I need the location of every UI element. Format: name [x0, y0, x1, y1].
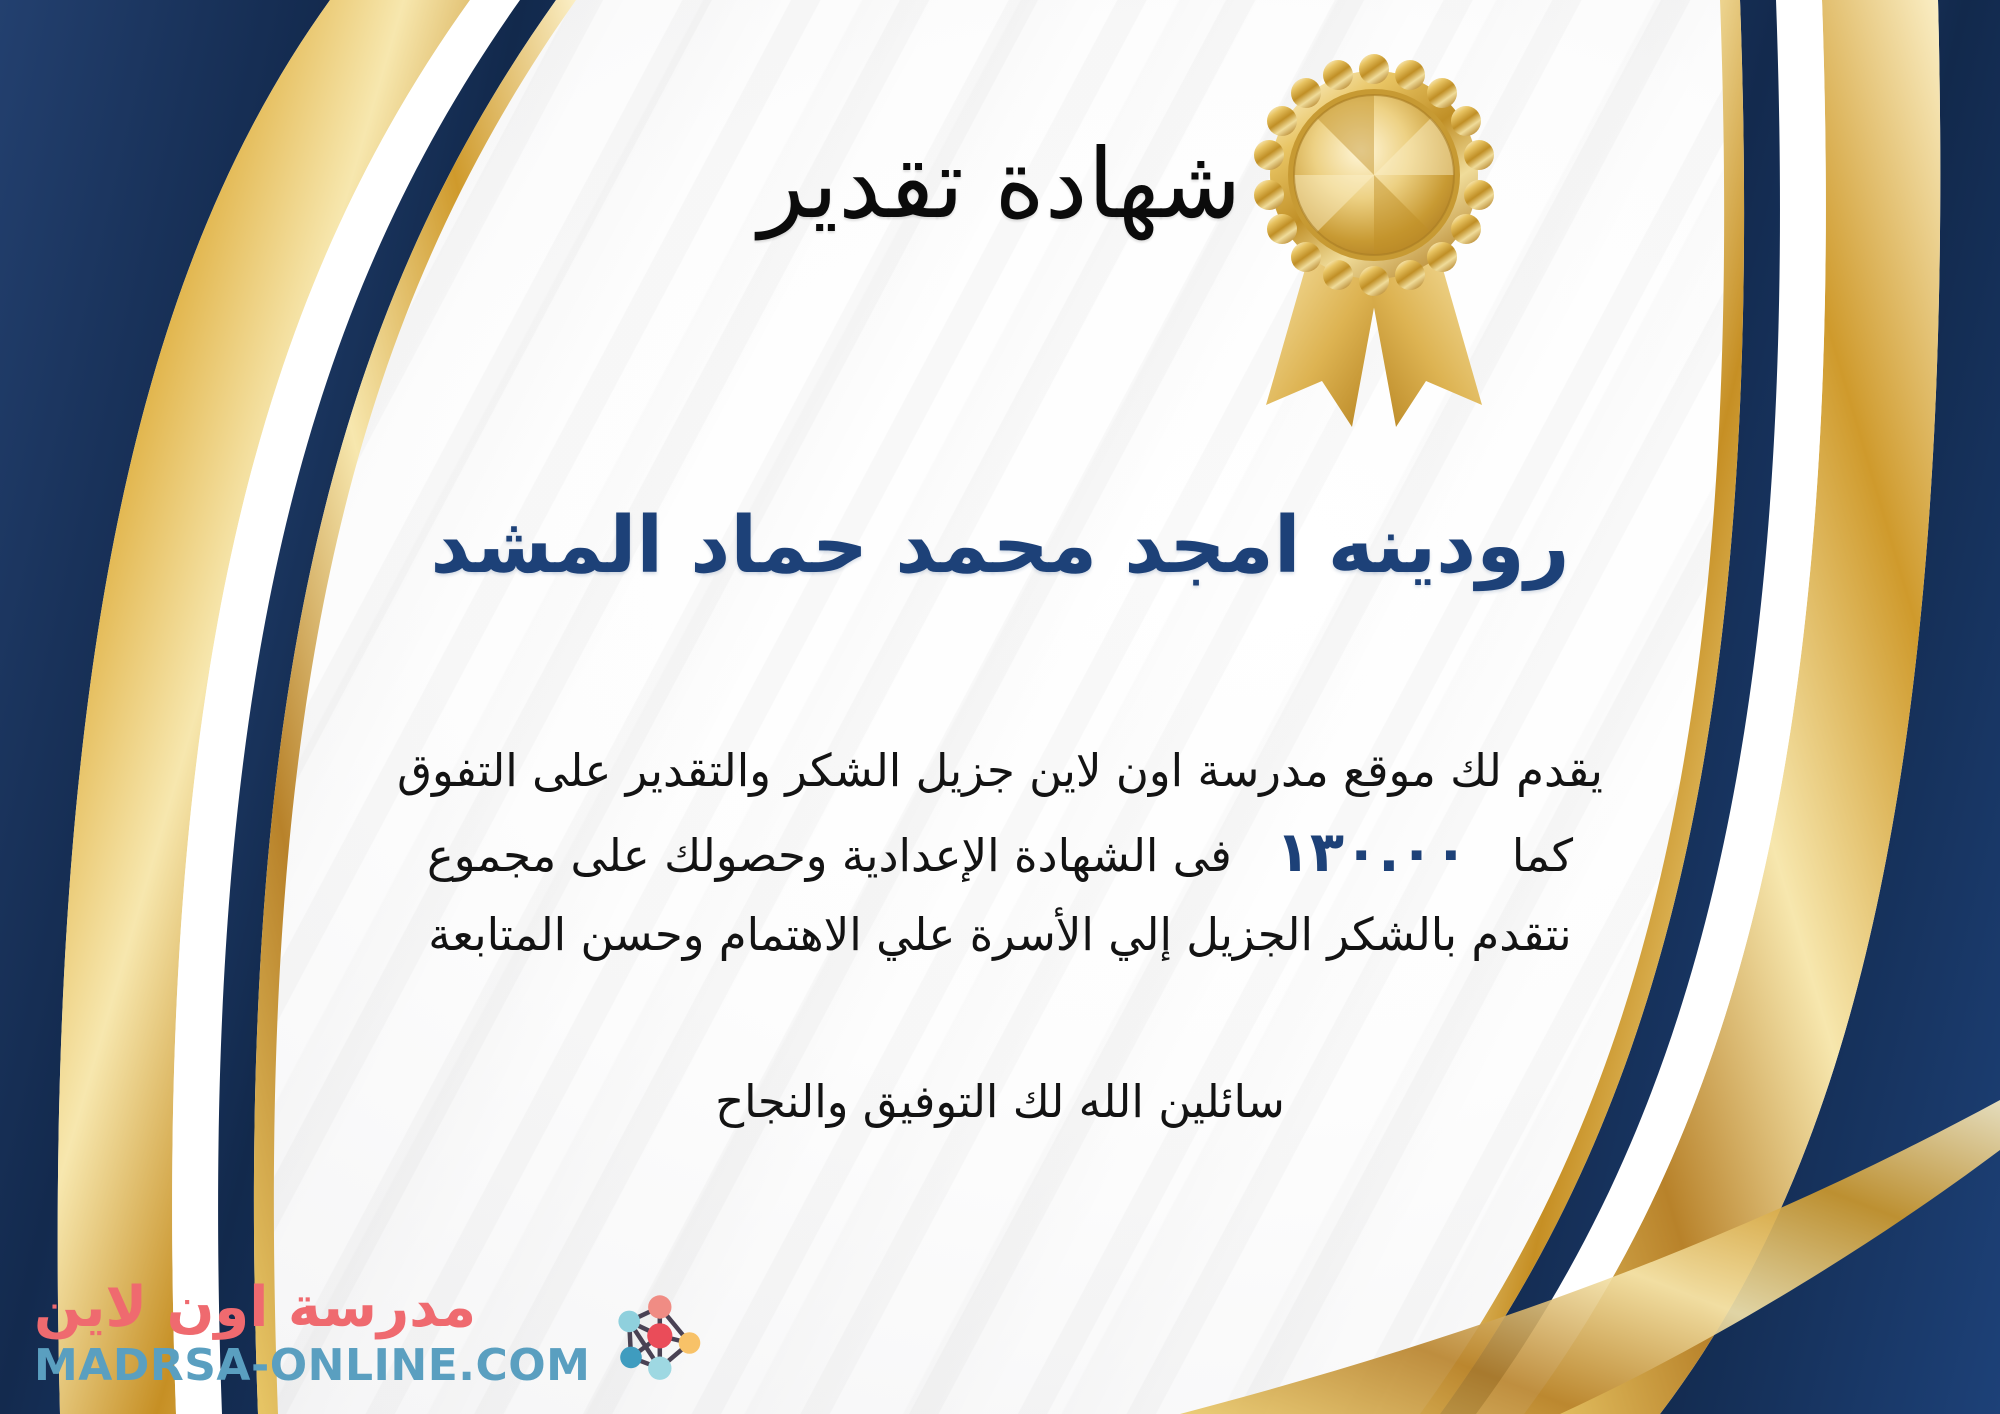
- logo-arabic-name: مدرسة اون لاين: [34, 1280, 476, 1336]
- certificate-title: شهادة تقدير: [0, 128, 2000, 240]
- network-nodes-icon: [604, 1280, 712, 1388]
- certificate-page: شهادة تقدير رودينه امجد محمد حماد المشد …: [0, 0, 2000, 1414]
- logo-text-block: مدرسة اون لاين MADRSA-ONLINE.COM: [34, 1280, 590, 1388]
- certificate-body: يقدم لك موقع مدرسة اون لاين جزيل الشكر و…: [215, 735, 1785, 972]
- body-line-1: يقدم لك موقع مدرسة اون لاين جزيل الشكر و…: [215, 735, 1785, 808]
- logo-website-url: MADRSA-ONLINE.COM: [34, 1344, 590, 1388]
- recipient-name: رودينه امجد محمد حماد المشد: [180, 500, 1820, 594]
- body-line-3: نتقدم بالشكر الجزيل إلي الأسرة علي الاهت…: [215, 899, 1785, 972]
- site-logo[interactable]: مدرسة اون لاين MADRSA-ONLINE.COM: [34, 1280, 712, 1388]
- grade-total-value: ١٣٠.٠٠: [1232, 808, 1512, 899]
- certificate-content: شهادة تقدير رودينه امجد محمد حماد المشد …: [0, 0, 2000, 1414]
- body-line-2-prefix: فى الشهادة الإعدادية وحصولك على مجموع: [427, 820, 1232, 893]
- body-line-2-suffix: كما: [1512, 820, 1573, 893]
- closing-line: سائلين الله لك التوفيق والنجاح: [215, 1075, 1785, 1128]
- body-line-2: كما ١٣٠.٠٠ فى الشهادة الإعدادية وحصولك ع…: [215, 808, 1785, 899]
